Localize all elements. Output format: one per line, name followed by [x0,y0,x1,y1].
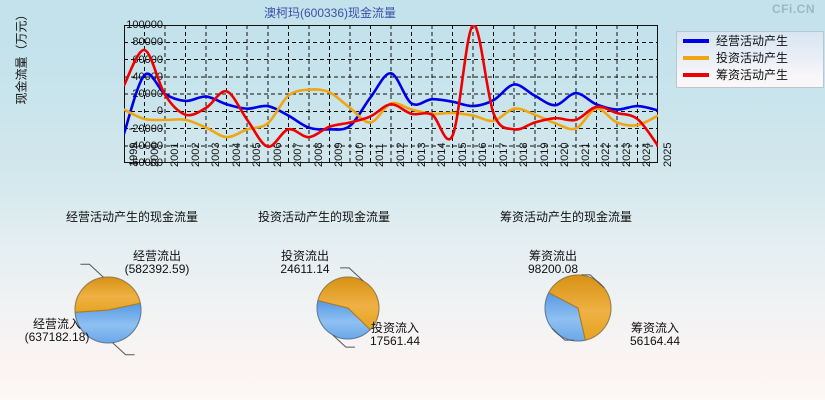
pie-inflow-label-financing: 筹资流入 56164.44 [590,322,720,348]
site-watermark: CFi.CN [772,2,815,16]
legend-label-operating: 经营活动产生 [716,35,788,47]
x-tick-label: 2025 [662,143,674,167]
pie-outflow-label-investing: 投资流出 24611.14 [240,250,370,276]
section-label-operating: 经营活动产生的现金流量 [66,208,198,225]
y-axis-title: 现金流量（万元） [13,0,30,122]
cashflow-chart-page: CFi.CN 澳柯玛(600336)现金流量 现金流量（万元） 10000080… [0,0,825,400]
legend-swatch-operating [683,39,709,43]
legend-item-operating: 经营活动产生 [677,32,823,49]
legend-swatch-financing [683,73,709,77]
line-chart-svg [124,25,658,163]
legend-label-financing: 筹资活动产生 [716,69,788,81]
pie-block-financing: 筹资流出 98200.08 筹资流入 56164.44 [460,250,750,370]
plot-area [124,25,658,163]
chart-title: 澳柯玛(600336)现金流量 [0,4,660,21]
legend-swatch-investing [683,56,709,60]
pie-inflow-label-investing: 投资流入 17561.44 [330,322,460,348]
chart-legend: 经营活动产生 投资活动产生 筹资活动产生 [676,31,824,88]
pie-block-investing: 投资流出 24611.14 投资流入 17561.44 [230,250,480,370]
legend-item-financing: 筹资活动产生 [677,66,823,83]
pie-outflow-label-operating: 经营流出 (582392.59) [92,250,222,276]
legend-label-investing: 投资活动产生 [716,52,788,64]
section-label-financing: 筹资活动产生的现金流量 [500,208,632,225]
pie-outflow-label-financing: 筹资流出 98200.08 [488,250,618,276]
section-label-investing: 投资活动产生的现金流量 [258,208,390,225]
legend-item-investing: 投资活动产生 [677,49,823,66]
pie-inflow-label-operating: 经营流入 (637182.18) [0,318,122,344]
